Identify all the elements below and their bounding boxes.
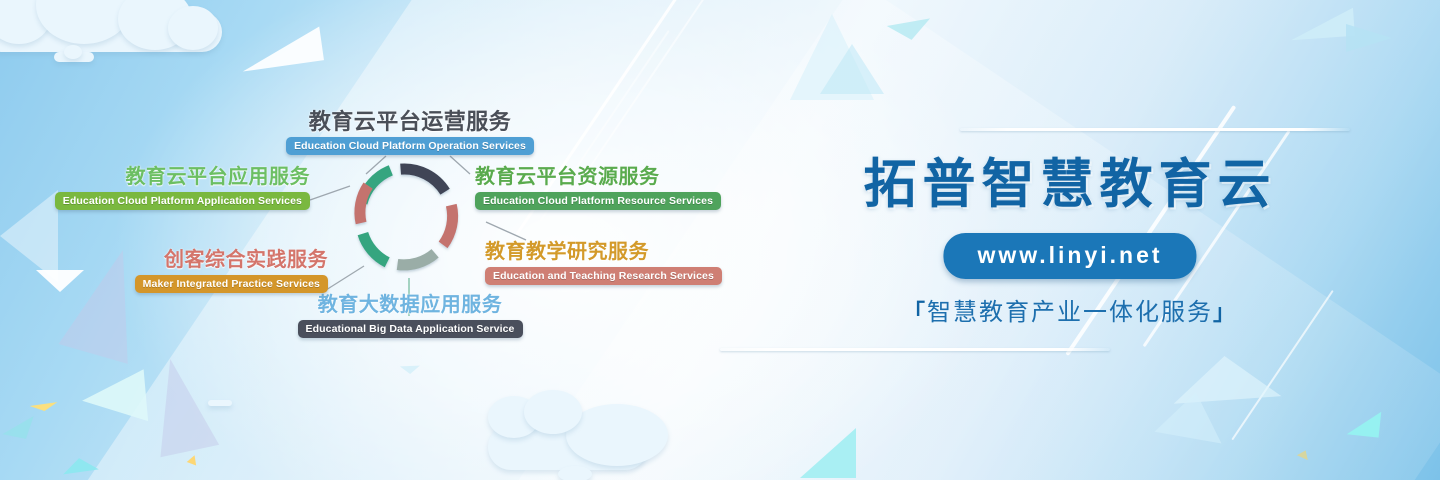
website-url-text: www.linyi.net <box>977 242 1162 268</box>
brand-block: 拓普智慧教育云 www.linyi.net 「智慧教育产业一体化服务」 <box>700 0 1440 480</box>
connector-research <box>486 222 526 240</box>
ring-segment-top-right <box>401 169 446 192</box>
service-label-research[interactable]: 教育教学研究服务 Education and Teaching Research… <box>485 240 722 285</box>
brand-tagline-text: 智慧教育产业一体化服务 <box>927 299 1213 326</box>
triangle-cyan-bottom-left <box>2 416 41 448</box>
service-cn-resource: 教育云平台资源服务 <box>475 165 721 189</box>
brand-title: 拓普智慧教育云 <box>700 155 1440 213</box>
bracket-open-icon: 「 <box>903 300 927 325</box>
cloud-top-left <box>0 0 272 52</box>
divider-top <box>960 128 1350 131</box>
service-cn-research: 教育教学研究服务 <box>485 240 722 264</box>
service-label-application[interactable]: 教育云平台应用服务 Education Cloud Platform Appli… <box>20 165 310 210</box>
service-cn-maker: 创客综合实践服务 <box>40 248 328 272</box>
service-cn-application: 教育云平台应用服务 <box>20 165 310 189</box>
service-label-resource[interactable]: 教育云平台资源服务 Education Cloud Platform Resou… <box>475 165 721 210</box>
cloud-small-left <box>54 45 94 61</box>
connector-resource <box>450 156 470 174</box>
connector-application <box>310 186 350 200</box>
ring-segment-bottom-right <box>398 253 436 265</box>
triangle-cyan-bottom <box>61 456 99 475</box>
service-cn-bigdata: 教育大数据应用服务 <box>210 293 610 317</box>
service-en-resource: Education Cloud Platform Resource Servic… <box>475 192 721 210</box>
website-url-pill[interactable]: www.linyi.net <box>943 233 1196 279</box>
service-label-bigdata[interactable]: 教育大数据应用服务 Educational Big Data Applicati… <box>210 293 610 338</box>
banner-root: 教育云平台运营服务 Education Cloud Platform Opera… <box>0 0 1440 480</box>
triangle-white-top-right <box>238 26 324 71</box>
service-cn-operation: 教育云平台运营服务 <box>195 110 625 134</box>
brand-tagline: 「智慧教育产业一体化服务」 <box>700 292 1440 327</box>
bracket-close-icon: 」 <box>1213 300 1237 325</box>
service-label-maker[interactable]: 创客综合实践服务 Maker Integrated Practice Servi… <box>40 248 328 293</box>
service-en-research: Education and Teaching Research Services <box>485 267 722 285</box>
triangle-violet-lower <box>141 353 219 457</box>
service-en-application: Education Cloud Platform Application Ser… <box>55 192 310 210</box>
connector-maker <box>326 266 364 290</box>
triangle-yellow-speck-left <box>30 402 59 413</box>
triangle-yellow-speck-mid <box>187 454 199 466</box>
donut-ring <box>360 169 453 265</box>
ring-segment-right <box>443 205 453 245</box>
service-en-operation: Education Cloud Platform Operation Servi… <box>286 137 534 155</box>
service-diagram: 教育云平台运营服务 Education Cloud Platform Opera… <box>150 100 690 360</box>
divider-bottom <box>720 348 1110 351</box>
cloud-bottom-center <box>480 388 680 468</box>
service-en-bigdata: Educational Big Data Application Service <box>298 320 523 338</box>
triangle-white-center <box>400 366 420 375</box>
ring-segment-bottom-left <box>363 234 387 263</box>
triangle-mint-left-lower <box>80 369 148 426</box>
service-en-maker: Maker Integrated Practice Services <box>135 275 328 293</box>
service-label-operation[interactable]: 教育云平台运营服务 Education Cloud Platform Opera… <box>195 110 625 155</box>
cloud-tiny-left <box>208 398 232 407</box>
